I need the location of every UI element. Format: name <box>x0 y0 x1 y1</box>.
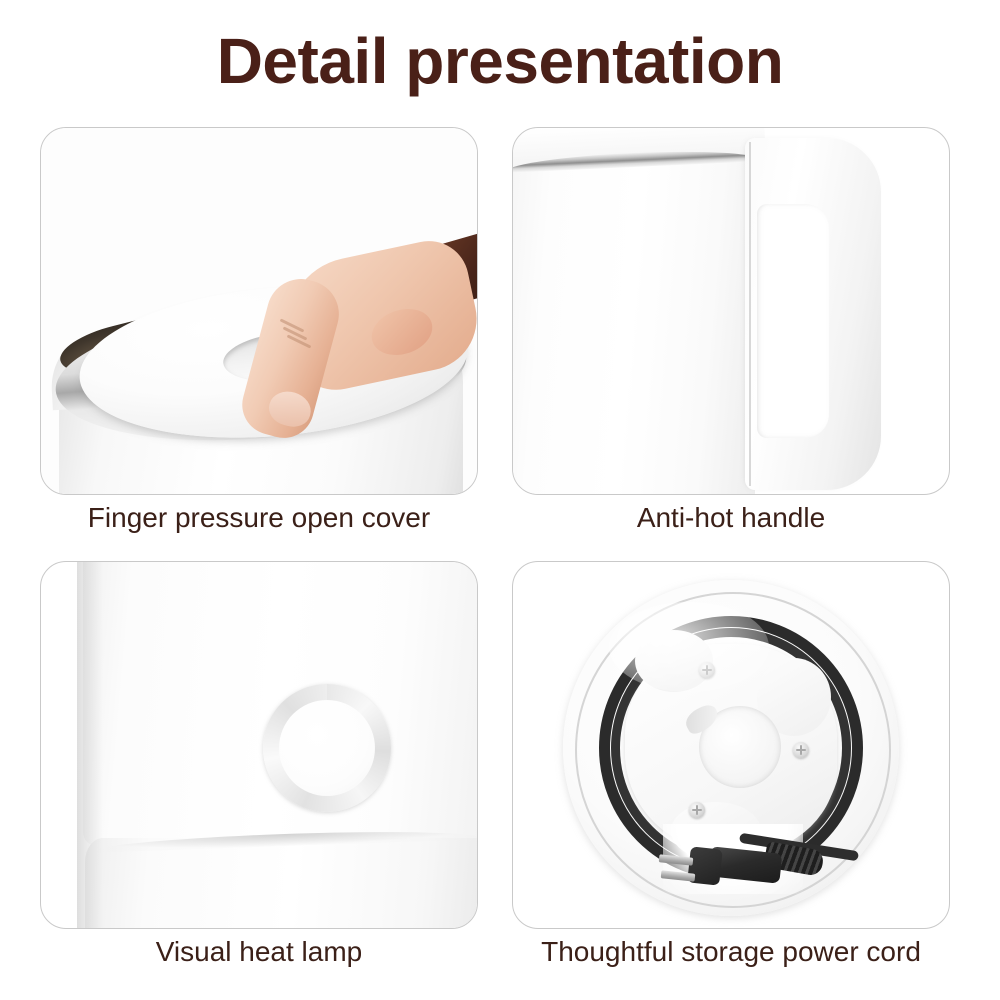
handle-grip-opening <box>757 204 829 438</box>
feature-caption-1: Finger pressure open cover <box>40 501 478 535</box>
handle-seam <box>749 142 751 486</box>
feature-caption-2: Anti-hot handle <box>512 501 950 535</box>
feature-cell-visual-heat-lamp: Visual heat lamp <box>40 561 478 961</box>
kettle-lid-press-illustration <box>41 128 477 494</box>
feature-image-panel-2 <box>512 127 950 495</box>
screw-icon <box>793 742 809 758</box>
kettle-handle-illustration <box>513 128 949 494</box>
feature-cell-finger-pressure-open-cover: Finger pressure open cover <box>40 127 478 527</box>
kettle-body <box>513 146 755 494</box>
feature-image-panel-1 <box>40 127 478 495</box>
feature-caption-3: Visual heat lamp <box>40 935 478 969</box>
feature-image-panel-4 <box>512 561 950 929</box>
heat-lamp-illustration <box>41 562 477 928</box>
feature-image-panel-3 <box>40 561 478 929</box>
power-cord-storage-illustration <box>513 562 949 928</box>
feature-grid: Finger pressure open cover Anti-hot hand… <box>40 127 950 977</box>
body-shadow <box>77 562 103 928</box>
screw-icon <box>689 802 705 818</box>
feature-cell-thoughtful-storage-power-cord: Thoughtful storage power cord <box>512 561 950 961</box>
base-highlight <box>609 602 769 692</box>
feature-cell-anti-hot-handle: Anti-hot handle <box>512 127 950 527</box>
heat-lamp-center <box>279 700 375 796</box>
feature-caption-4: Thoughtful storage power cord <box>512 935 950 969</box>
page-title: Detail presentation <box>0 28 1000 95</box>
kettle-base-collar <box>85 838 477 928</box>
